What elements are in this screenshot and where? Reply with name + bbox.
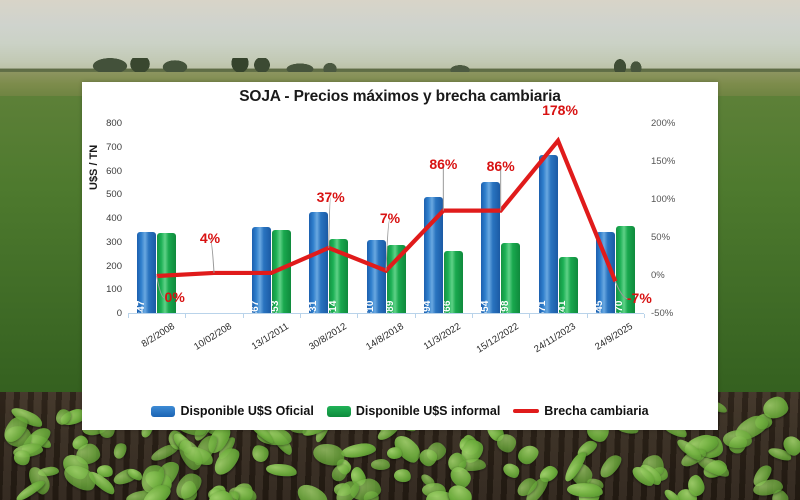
y-tick-left-300: 300 <box>106 238 122 248</box>
legend-label: Brecha cambiaria <box>544 404 648 418</box>
brecha-pct-label: 0% <box>165 289 185 305</box>
y-tick-left-400: 400 <box>106 214 122 224</box>
y-tick-left-800: 800 <box>106 119 122 129</box>
y-tick-right-50pct: 50% <box>651 233 670 243</box>
x-axis-line <box>128 313 644 314</box>
chart-legend: Disponible U$S OficialDisponible U$S inf… <box>82 404 718 418</box>
red-line-icon <box>513 409 539 413</box>
brecha-pct-label: 178% <box>542 102 578 118</box>
brecha-pct-label: -7% <box>627 290 652 306</box>
legend-label: Disponible U$S Oficial <box>180 404 313 418</box>
plot-area: 8007006005004003002001000 200%150%100%50… <box>128 124 644 314</box>
x-tick-mark <box>644 314 645 318</box>
x-axis-label: 15/12/2022 <box>455 321 520 367</box>
y-tick-right-100pct: 100% <box>651 195 675 205</box>
x-axis-label: 11/3/2022 <box>398 321 463 367</box>
x-tick-mark <box>357 314 358 318</box>
legend-item[interactable]: Disponible U$S informal <box>327 404 500 418</box>
blue-square-icon <box>151 406 175 417</box>
x-tick-mark <box>185 314 186 318</box>
x-tick-mark <box>472 314 473 318</box>
brecha-pct-label: 7% <box>380 210 400 226</box>
y-tick-left-0: 0 <box>117 309 122 319</box>
y-tick-right-neg50pct: -50% <box>651 309 673 319</box>
brecha-pct-label: 37% <box>317 189 345 205</box>
y-tick-left-100: 100 <box>106 285 122 295</box>
x-axis-label: 14/8/2018 <box>341 321 406 367</box>
y-tick-left-500: 500 <box>106 190 122 200</box>
x-axis-label: 24/9/2025 <box>570 321 635 367</box>
legend-item[interactable]: Disponible U$S Oficial <box>151 404 313 418</box>
x-tick-mark <box>529 314 530 318</box>
x-axis-label: 30/8/2012 <box>283 321 348 367</box>
y-tick-left-600: 600 <box>106 167 122 177</box>
legend-label: Disponible U$S informal <box>356 404 500 418</box>
brecha-pct-label: 86% <box>429 156 457 172</box>
x-tick-mark <box>587 314 588 318</box>
x-tick-mark <box>300 314 301 318</box>
y-tick-left-200: 200 <box>106 262 122 272</box>
y-tick-right-150pct: 150% <box>651 157 675 167</box>
y-tick-right-200pct: 200% <box>651 119 675 129</box>
x-axis-label: 24/11/2023 <box>513 321 578 367</box>
soy-leaf <box>722 429 752 449</box>
y-axis-title: U$S / TN <box>88 145 100 190</box>
chart-title: SOJA - Precios máximos y brecha cambiari… <box>82 88 718 106</box>
x-tick-mark <box>415 314 416 318</box>
brecha-pct-label: 86% <box>487 158 515 174</box>
chart-panel: SOJA - Precios máximos y brecha cambiari… <box>82 82 718 430</box>
x-axis-label: 10/02/208 <box>169 321 234 367</box>
x-axis-label: 8/2/2008 <box>111 321 176 367</box>
y-tick-left-700: 700 <box>106 143 122 153</box>
x-tick-mark <box>128 314 129 318</box>
x-tick-mark <box>243 314 244 318</box>
brecha-pct-label: 4% <box>200 230 220 246</box>
y-tick-right-0pct: 0% <box>651 271 665 281</box>
legend-item[interactable]: Brecha cambiaria <box>513 404 648 418</box>
green-square-icon <box>327 406 351 417</box>
x-axis-label: 13/1/2011 <box>226 321 291 367</box>
